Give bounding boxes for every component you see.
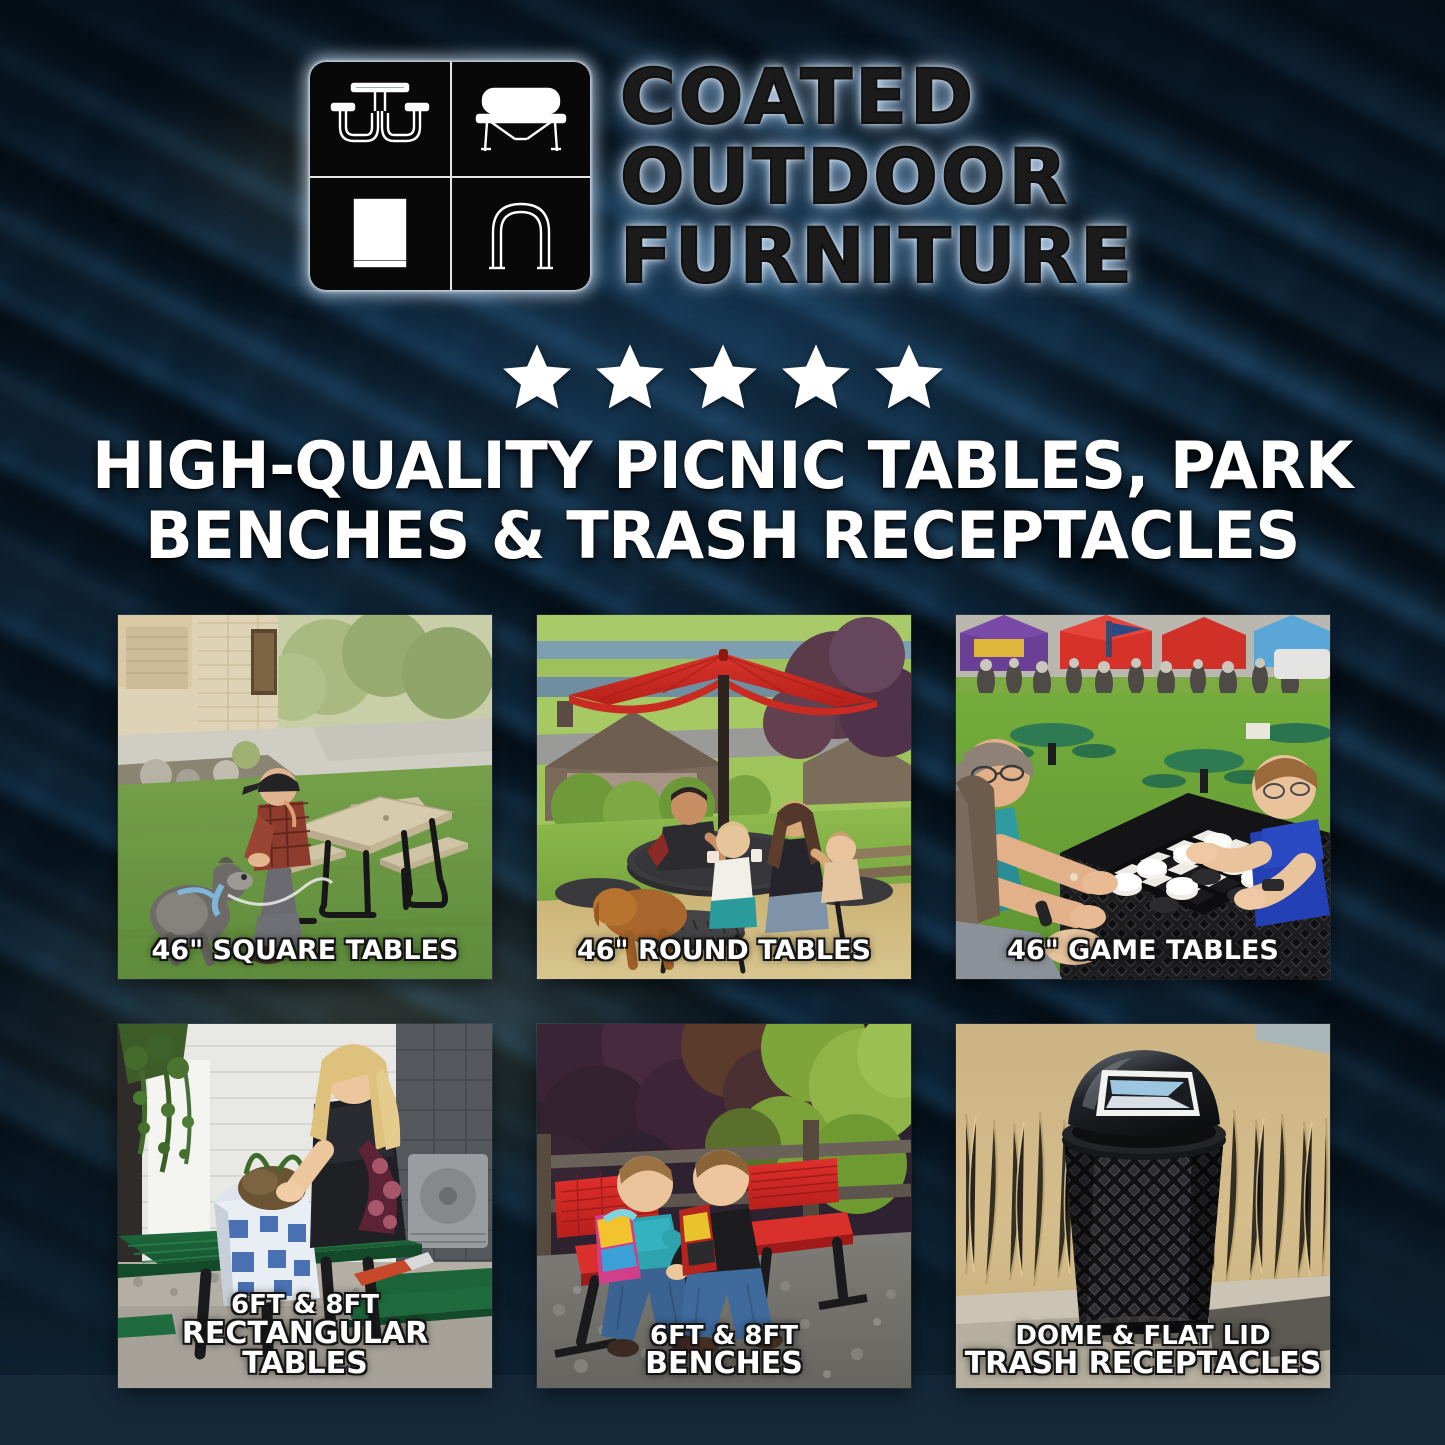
park-bench-icon — [450, 62, 590, 176]
product-label: 46" ROUND TABLES — [537, 937, 911, 965]
star-icon — [779, 340, 853, 414]
brand-name-line-1: COATED — [620, 58, 1135, 136]
star-icon — [500, 340, 574, 414]
star-icon — [686, 340, 760, 414]
product-label-line-2: TRASH RECEPTACLES — [962, 1349, 1324, 1380]
star-icon — [593, 340, 667, 414]
product-label-line-1: 46" SQUARE TABLES — [152, 935, 459, 966]
product-card-round-tables[interactable]: 46" ROUND TABLES — [537, 615, 911, 979]
product-label-line-1: 46" ROUND TABLES — [577, 935, 871, 966]
picnic-table-icon — [310, 62, 450, 176]
logo-icon-grid — [310, 62, 590, 290]
product-label-line-1: 6FT & 8FT — [124, 1292, 486, 1319]
brand-logo: COATED OUTDOOR FURNITURE — [0, 58, 1445, 295]
page-headline: HIGH-QUALITY PICNIC TABLES, PARK BENCHES… — [29, 432, 1416, 571]
product-label-line-1: 46" GAME TABLES — [1007, 935, 1279, 966]
trash-receptacle-icon — [310, 176, 450, 290]
product-label: 46" SQUARE TABLES — [118, 937, 492, 965]
headline-line-2: BENCHES & TRASH RECEPTACLES — [87, 502, 1359, 572]
game-tables-photo — [956, 615, 1330, 979]
bike-rack-arch-icon — [450, 176, 590, 290]
five-star-rating — [0, 340, 1445, 414]
product-card-square-tables[interactable]: 46" SQUARE TABLES — [118, 615, 492, 979]
round-tables-photo — [537, 615, 911, 979]
product-label: 46" GAME TABLES — [956, 937, 1330, 965]
product-label: 6FT & 8FT BENCHES — [537, 1323, 911, 1380]
product-card-benches[interactable]: 6FT & 8FT BENCHES — [537, 1024, 911, 1388]
product-label-line-2: RECTANGULAR TABLES — [124, 1319, 486, 1380]
square-tables-photo — [118, 615, 492, 979]
product-category-grid: 46" SQUARE TABLES — [118, 615, 1330, 1388]
headline-line-1: HIGH-QUALITY PICNIC TABLES, PARK — [92, 429, 1353, 504]
star-icon — [872, 340, 946, 414]
product-card-game-tables[interactable]: 46" GAME TABLES — [956, 615, 1330, 979]
brand-name-line-3: FURNITURE — [620, 217, 1135, 295]
product-label: 6FT & 8FT RECTANGULAR TABLES — [118, 1292, 492, 1380]
product-card-rectangular-tables[interactable]: 6FT & 8FT RECTANGULAR TABLES — [118, 1024, 492, 1388]
product-label-line-2: BENCHES — [543, 1349, 905, 1380]
product-label: DOME & FLAT LID TRASH RECEPTACLES — [956, 1323, 1330, 1380]
product-card-trash-receptacles[interactable]: DOME & FLAT LID TRASH RECEPTACLES — [956, 1024, 1330, 1388]
brand-name-line-2: OUTDOOR — [620, 138, 1135, 216]
brand-name: COATED OUTDOOR FURNITURE — [620, 58, 1135, 295]
